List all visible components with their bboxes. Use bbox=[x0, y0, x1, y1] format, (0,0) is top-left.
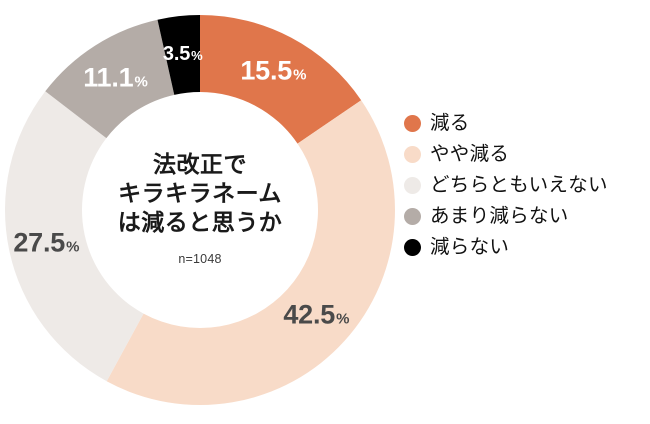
donut-chart-figure: 法改正で キラキラネーム は減ると思うか n=1048 15.5%42.5%27… bbox=[0, 0, 650, 424]
legend-item[interactable]: 減る bbox=[404, 108, 648, 139]
legend-color-dot-icon bbox=[404, 239, 421, 256]
chart-legend: 減るやや減るどちらともいえないあまり減らない減らない bbox=[404, 108, 648, 263]
donut-slices bbox=[5, 15, 395, 405]
legend-item[interactable]: あまり減らない bbox=[404, 201, 648, 232]
legend-color-dot-icon bbox=[404, 177, 421, 194]
legend-item-label: どちらともいえない bbox=[430, 176, 608, 196]
legend-item-label: 減る bbox=[430, 114, 470, 134]
legend-color-dot-icon bbox=[404, 208, 421, 225]
donut-slice[interactable] bbox=[107, 100, 395, 405]
legend-item[interactable]: 減らない bbox=[404, 232, 648, 263]
legend-item[interactable]: どちらともいえない bbox=[404, 170, 648, 201]
legend-item[interactable]: やや減る bbox=[404, 139, 648, 170]
donut-slice[interactable] bbox=[5, 91, 144, 381]
legend-item-label: やや減る bbox=[430, 145, 509, 165]
legend-item-label: あまり減らない bbox=[430, 207, 569, 227]
legend-color-dot-icon bbox=[404, 115, 421, 132]
legend-item-label: 減らない bbox=[430, 238, 509, 258]
legend-color-dot-icon bbox=[404, 146, 421, 163]
